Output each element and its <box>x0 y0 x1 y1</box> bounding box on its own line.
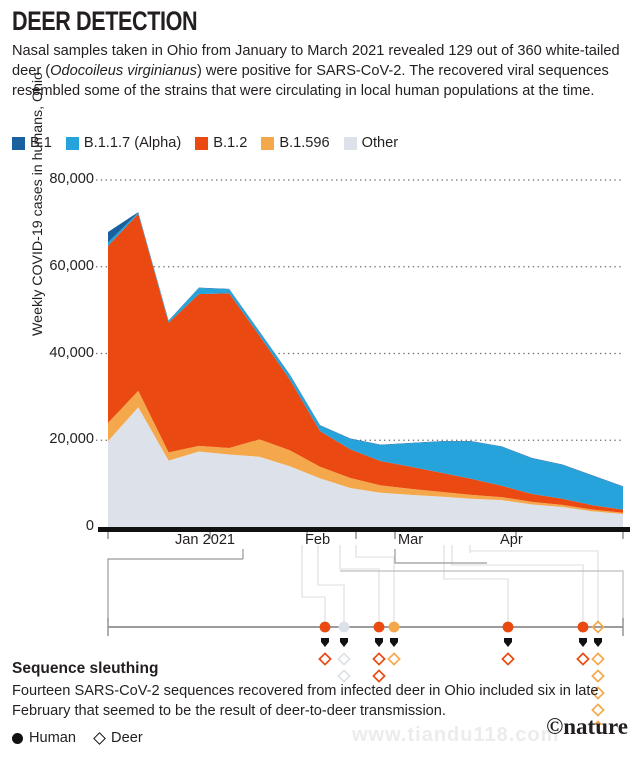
sequence-legend: HumanDeer <box>12 730 143 746</box>
sequence-cluster-c5 <box>502 622 513 665</box>
transmission-arrow-icon <box>375 638 383 647</box>
sequence-section-body: Fourteen SARS-CoV-2 sequences recovered … <box>12 681 628 721</box>
sequence-legend-item-human: Human <box>12 730 76 746</box>
connector-bracket-jan <box>108 549 243 622</box>
transmission-arrow-icon <box>321 638 329 647</box>
deer-sequence-marker <box>338 653 349 664</box>
transmission-arrow-icon <box>579 638 587 647</box>
human-marker <box>374 622 385 633</box>
sequence-legend-label: Human <box>29 730 76 746</box>
human-marker <box>578 622 589 633</box>
human-marker <box>503 622 514 633</box>
human-marker <box>389 622 400 633</box>
x-axis-tick-label: Feb <box>305 532 330 548</box>
deer-sequence-marker <box>373 653 384 664</box>
sequence-cluster-c3 <box>373 622 384 682</box>
cluster-leader-line-7 <box>470 551 598 623</box>
deer-sequence-marker <box>388 653 399 664</box>
x-axis-tick-label: Jan 2021 <box>175 532 235 548</box>
stacked-area-chart <box>0 0 640 570</box>
nature-credit: ©nature <box>546 714 628 740</box>
sequence-cluster-c4 <box>388 622 399 665</box>
transmission-arrow-icon <box>390 638 398 647</box>
deer-sequence-marker <box>502 653 513 664</box>
transmission-arrow-icon <box>340 638 348 647</box>
x-axis-tick-label: Apr <box>500 532 523 548</box>
x-axis-tick-label: Mar <box>398 532 423 548</box>
deer-diamond-icon <box>93 732 106 745</box>
sequence-legend-item-deer: Deer <box>94 730 143 746</box>
human-marker <box>320 622 331 633</box>
deer-sequence-marker <box>577 653 588 664</box>
cluster-leader-line-3 <box>340 551 379 623</box>
sequence-cluster-c2 <box>338 622 349 682</box>
cluster-leader-line-5 <box>444 551 508 623</box>
human-circle-icon <box>12 733 23 744</box>
deer-sequence-marker <box>319 653 330 664</box>
sequence-cluster-c6 <box>577 622 588 665</box>
human-marker <box>339 622 350 633</box>
transmission-arrow-icon <box>594 638 602 647</box>
sequence-legend-label: Deer <box>111 730 143 746</box>
sequence-section-title: Sequence sleuthing <box>12 660 158 678</box>
transmission-arrow-icon <box>504 638 512 647</box>
deer-sequence-marker <box>592 653 603 664</box>
deer-sequence-marker <box>592 670 603 681</box>
cluster-leader-line-4 <box>356 551 394 623</box>
sequence-cluster-c1 <box>319 622 330 665</box>
deer-sequence-marker <box>373 670 384 681</box>
cluster-leader-line-1 <box>302 551 325 623</box>
watermark-text: www.tiandu118.com <box>352 724 559 747</box>
deer-sequence-marker <box>338 670 349 681</box>
cluster-leader-line-6 <box>452 551 583 623</box>
